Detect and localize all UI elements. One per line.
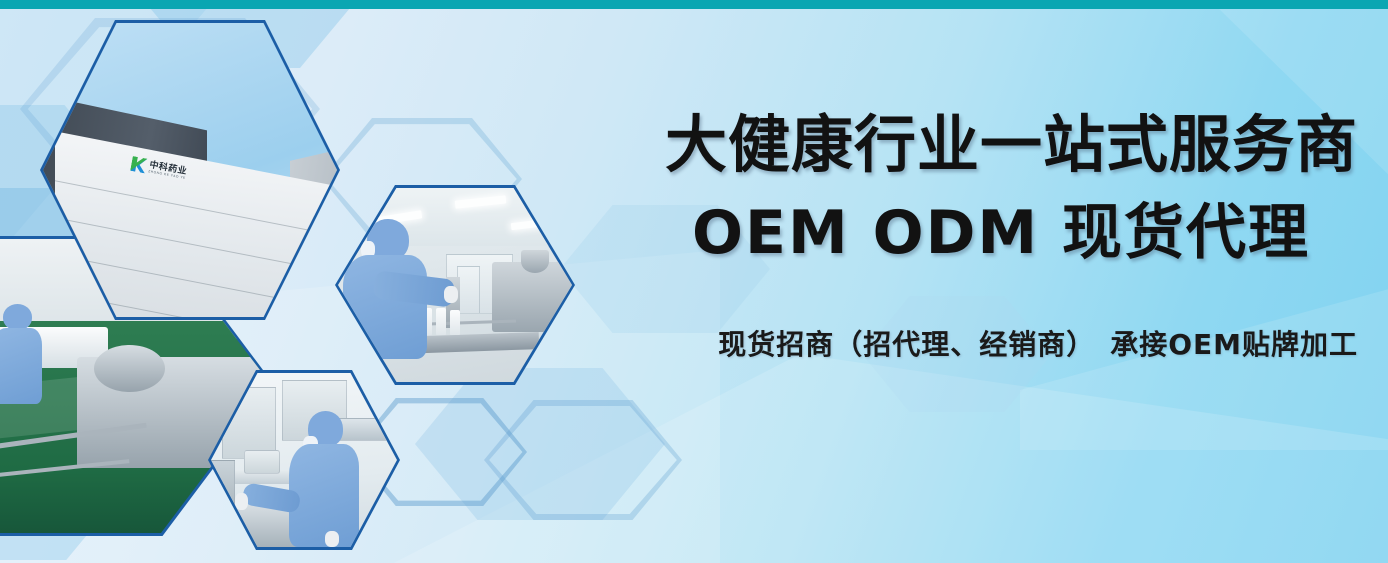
sub-headline: 现货招商（招代理、经销商） 承接OEM贴牌加工 [558, 323, 1358, 363]
workshop-machine-drum [94, 345, 165, 392]
banner-copy: 大健康行业一站式服务商 OEM ODM 现货代理 现货招商（招代理、经销商） 承… [558, 112, 1358, 363]
bottle [450, 310, 459, 335]
lab-equipment [244, 450, 279, 475]
headline-secondary: OEM ODM 现货代理 [558, 202, 1358, 266]
lab-worker [285, 411, 367, 547]
headline-primary: 大健康行业一站式服务商 [558, 112, 1358, 178]
k-monogram-icon [130, 156, 147, 173]
top-accent-rule [0, 0, 1388, 9]
cleanroom-doorway [457, 266, 480, 315]
promotional-banner: 中科药业 ZHONG KE YAO YE [0, 0, 1388, 563]
filling-machine-hopper [521, 250, 549, 273]
workshop-worker-2 [0, 304, 46, 404]
